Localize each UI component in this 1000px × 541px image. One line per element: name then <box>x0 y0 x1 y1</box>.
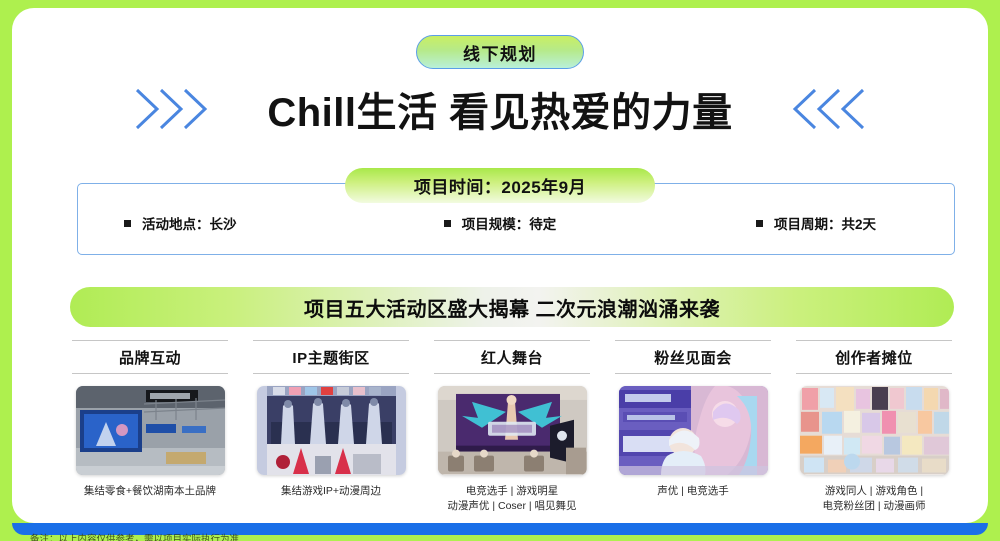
caption-line: 声优 | 电竞选手 <box>657 484 729 500</box>
fan-meetup-signing-photo <box>619 386 768 475</box>
chevrons-left-icon <box>785 86 867 132</box>
info-item-duration: 项目周期：共2天 <box>625 213 908 233</box>
section-badge-label: 线下规划 <box>463 40 537 65</box>
section-banner: 项目五大活动区盛大揭幕 二次元浪潮汹涌来袭 <box>70 287 954 327</box>
column-caption: 集结游戏IP+动漫周边 <box>281 484 381 500</box>
column-title: 创作者摊位 <box>796 340 952 374</box>
section-banner-label: 项目五大活动区盛大揭幕 二次元浪潮汹涌来袭 <box>304 293 720 322</box>
column-title: IP主题街区 <box>253 340 409 374</box>
column-caption: 声优 | 电竞选手 <box>657 484 729 500</box>
column-title: 红人舞台 <box>434 340 590 374</box>
footer-note: 备注：以上内容仅供参考，需以项目实际执行为准 <box>30 531 239 541</box>
project-time-label: 项目时间：2025年9月 <box>414 173 586 198</box>
chevrons-right-icon <box>133 86 215 132</box>
column-title: 粉丝见面会 <box>615 340 771 374</box>
expo-hall-led-screen-photo <box>76 386 225 475</box>
caption-line: 动漫声优 | Coser | 唱见舞见 <box>447 499 576 515</box>
square-bullet-icon <box>444 220 451 227</box>
column-title: 品牌互动 <box>72 340 228 374</box>
info-item-duration-label: 项目周期：共2天 <box>774 213 876 233</box>
info-item-scale: 项目规模：待定 <box>375 213 626 233</box>
info-item-scale-label: 项目规模：待定 <box>462 213 557 233</box>
section-badge: 线下规划 <box>416 35 584 69</box>
caption-line: 集结零食+餐饮湖南本土品牌 <box>84 484 216 500</box>
activity-column-fan-meetup[interactable]: 粉丝见面会 <box>607 340 779 515</box>
project-time-pill: 项目时间：2025年9月 <box>345 168 655 203</box>
column-caption: 集结零食+餐饮湖南本土品牌 <box>84 484 216 500</box>
activity-column-influencer-stage[interactable]: 红人舞台 <box>426 340 598 515</box>
ip-themed-street-standees-photo <box>257 386 406 475</box>
activity-column-creator-booth[interactable]: 创作者摊位 <box>788 340 960 515</box>
caption-line: 集结游戏IP+动漫周边 <box>281 484 381 500</box>
influencer-stage-photo <box>438 386 587 475</box>
page-title: Chill生活 看见热爱的力量 <box>267 80 732 138</box>
activity-column-brand-interaction[interactable]: 品牌互动 <box>64 340 236 515</box>
square-bullet-icon <box>756 220 763 227</box>
info-item-location-label: 活动地点：长沙 <box>142 213 237 233</box>
info-item-location: 活动地点：长沙 <box>124 213 375 233</box>
creator-booth-goods-photo <box>800 386 949 475</box>
caption-line: 电竞粉丝团 | 动漫画师 <box>822 499 925 515</box>
activity-column-ip-street[interactable]: IP主题街区 <box>245 340 417 515</box>
activity-zone-columns: 品牌互动 <box>64 340 960 515</box>
column-caption: 游戏同人 | 游戏角色 | 电竞粉丝团 | 动漫画师 <box>822 484 925 516</box>
square-bullet-icon <box>124 220 131 227</box>
column-caption: 电竞选手 | 游戏明星 动漫声优 | Coser | 唱见舞见 <box>447 484 576 516</box>
caption-line: 游戏同人 | 游戏角色 | <box>822 484 925 500</box>
slide-card: 线下规划 Chill生活 看见热爱的力量 项目时间：2025年9月 <box>12 8 988 523</box>
title-row: Chill生活 看见热爱的力量 <box>12 78 988 140</box>
caption-line: 电竞选手 | 游戏明星 <box>447 484 576 500</box>
